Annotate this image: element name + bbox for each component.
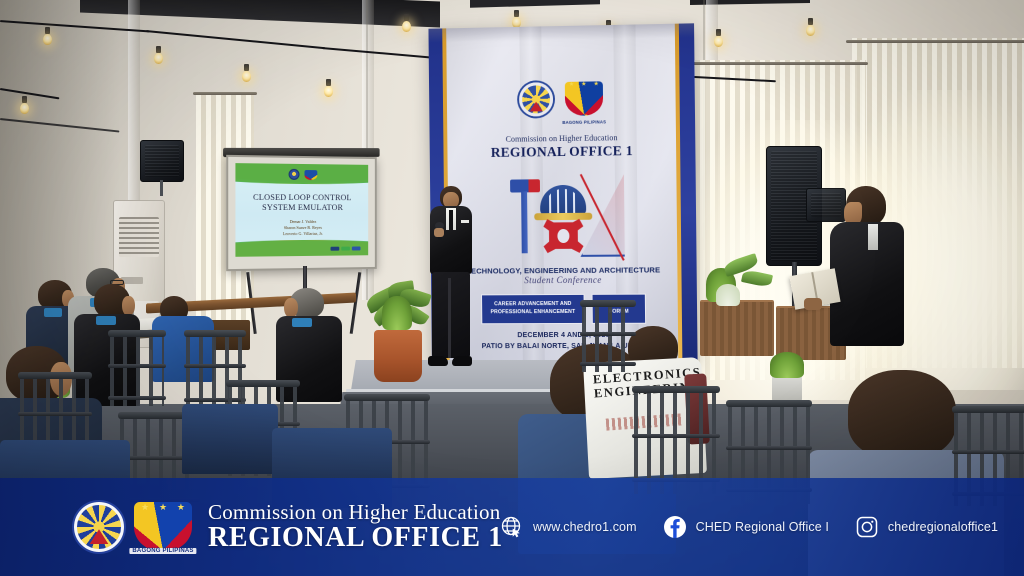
chiavari-chair	[108, 330, 166, 406]
slide-author-list: Demar J. Valdez Sharon Suave B. Reyes Le…	[235, 219, 368, 237]
social-instagram-handle: chedregionaloffice1	[888, 520, 998, 534]
tarp-chip-career: CAREER ADVANCEMENT AND PROFESSIONAL ENHA…	[481, 294, 585, 324]
footer-social-list: www.chedro1.com CHED Regional Office I	[500, 515, 998, 539]
presentation-slide: CLOSED LOOP CONTROL SYSTEM EMULATOR Dema…	[235, 163, 368, 257]
plant-foliage	[382, 296, 412, 330]
planter-box-right	[700, 300, 774, 356]
tarp-logo-row: ★★★ BAGONG PILIPINAS	[519, 81, 603, 116]
social-instagram[interactable]: chedregionaloffice1	[855, 515, 998, 539]
string-light-bulb	[154, 46, 163, 64]
ched-seal-icon	[519, 82, 553, 116]
slide-footer-logo-icon	[352, 246, 361, 250]
chiavari-chair	[580, 300, 636, 372]
ched-seal-icon	[74, 502, 124, 552]
screenshot-root: CLOSED LOOP CONTROL SYSTEM EMULATOR Dema…	[0, 0, 1024, 576]
audience-face	[122, 296, 135, 316]
attendee-collar	[868, 224, 878, 250]
flower-arrangement	[716, 284, 740, 306]
string-light-bulb	[242, 64, 251, 82]
string-light-bulb	[512, 10, 521, 28]
presenter-speaker	[424, 186, 478, 386]
slide-author: Leoverio G. Villariaz, Jr.	[235, 231, 368, 238]
slide-title-line-2: SYSTEM EMULATOR	[235, 203, 368, 213]
social-website-handle: www.chedro1.com	[533, 520, 637, 534]
presenter-hand	[434, 228, 444, 237]
facebook-icon	[663, 515, 687, 539]
bp-caption: BAGONG PILIPINAS	[129, 548, 196, 554]
presenter-shoe-right	[452, 356, 472, 366]
projection-screen: CLOSED LOOP CONTROL SYSTEM EMULATOR Dema…	[226, 155, 377, 271]
curtain-rod-right	[846, 40, 1024, 43]
presenter-trousers	[432, 272, 470, 358]
audience-lanyard	[44, 308, 62, 317]
small-pot-right	[772, 374, 802, 402]
string-light-bulb	[806, 18, 815, 36]
string-light-bulb	[714, 29, 723, 47]
string-light-bulb	[402, 14, 411, 32]
wall-speaker-left	[140, 140, 184, 182]
string-light-bulb	[324, 79, 333, 97]
presenter-pocket-square	[461, 220, 469, 223]
hard-hat-brim	[534, 213, 592, 221]
string-light-bulb	[20, 96, 29, 114]
footer-office-name: REGIONAL OFFICE 1	[208, 523, 503, 552]
slide-logo-row	[289, 169, 318, 180]
instagram-icon	[855, 515, 879, 539]
presenter-shoe-left	[428, 356, 448, 366]
bp-stars: ★★★	[134, 503, 192, 512]
slide-footer-logos	[331, 246, 361, 250]
social-facebook-handle: CHED Regional Office I	[696, 520, 829, 534]
globe-icon	[500, 515, 524, 539]
footer-agency-name: Commission on Higher Education	[208, 501, 503, 523]
bagong-pilipinas-icon: ★★★ BAGONG PILIPINAS	[134, 502, 192, 552]
audience-hair	[848, 370, 956, 458]
slide-footer-logo-icon	[341, 247, 350, 251]
tea-monogram-graphic	[496, 168, 629, 261]
slide-footer-logo-icon	[331, 247, 340, 251]
slide-title: CLOSED LOOP CONTROL SYSTEM EMULATOR	[235, 193, 368, 213]
presenter-necktie	[449, 210, 453, 230]
attendee-jacket	[830, 222, 904, 346]
curtain-rod-left	[193, 92, 257, 95]
tarp-office-line: REGIONAL OFFICE 1	[430, 142, 696, 161]
ched-seal-icon	[289, 169, 300, 180]
footer-brand-bar: ★★★ BAGONG PILIPINAS Commission on Highe…	[0, 478, 1024, 576]
bp-stars: ★★★	[565, 81, 603, 88]
bagong-pilipinas-icon	[304, 170, 317, 180]
audience-lanyard	[292, 318, 312, 327]
social-website[interactable]: www.chedro1.com	[500, 515, 637, 539]
bp-caption: BAGONG PILIPINAS	[562, 119, 606, 125]
chair-seat-cushion	[182, 404, 278, 474]
small-plant-right	[770, 352, 804, 378]
speaker-bracket-left	[160, 180, 163, 196]
gear-hole	[557, 229, 569, 243]
audience-face	[284, 298, 298, 318]
attendee-hand	[804, 298, 822, 310]
potted-plant-stage	[374, 330, 422, 382]
audience-lanyard	[96, 316, 116, 325]
hard-hat-ribs	[546, 189, 580, 213]
hammer-handle	[521, 191, 528, 253]
footer-titles: Commission on Higher Education REGIONAL …	[208, 501, 503, 552]
social-facebook[interactable]: CHED Regional Office I	[663, 515, 829, 539]
bagong-pilipinas-icon: ★★★ BAGONG PILIPINAS	[565, 81, 603, 116]
string-light-bulb	[43, 27, 52, 45]
presenter-trouser-seam	[448, 278, 451, 358]
curtain-rod-center	[686, 62, 868, 65]
